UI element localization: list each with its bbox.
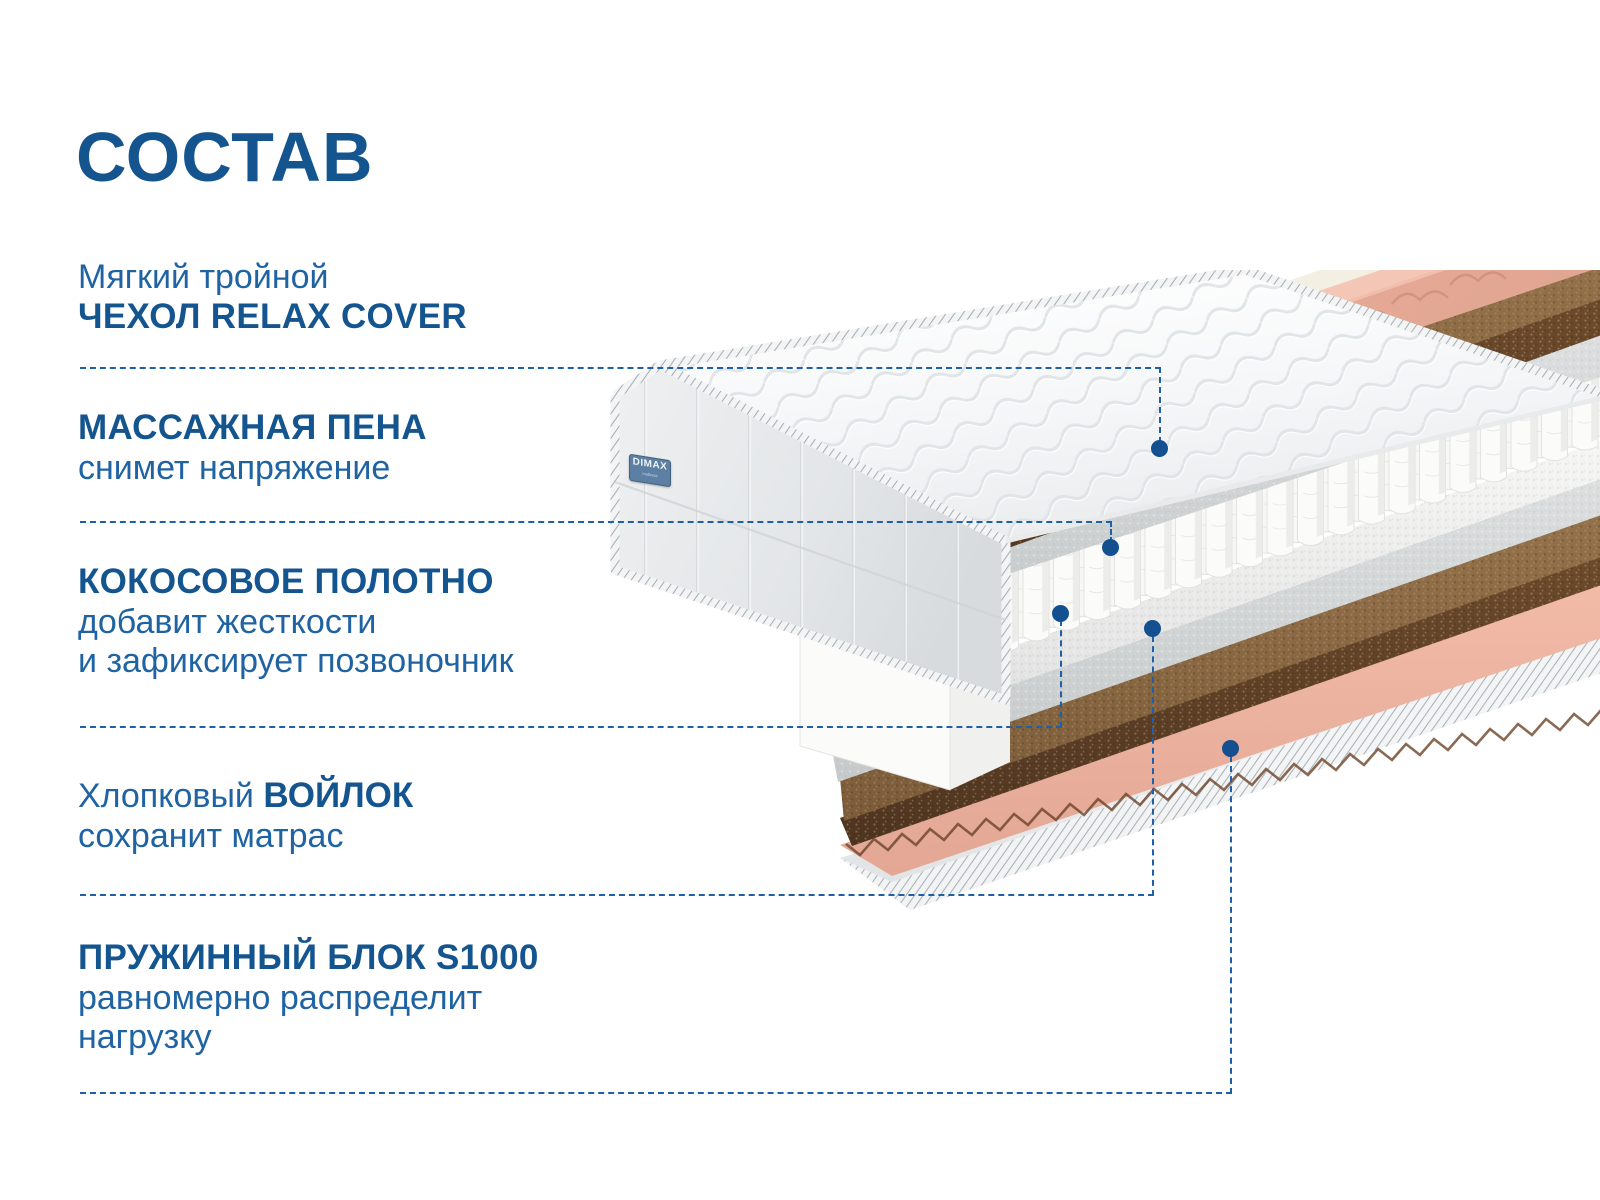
connector-line-felt-vertical	[1152, 636, 1154, 896]
massage-foam-name: МАССАЖНАЯ ПЕНА	[78, 408, 427, 449]
felt-marker	[1144, 620, 1161, 637]
spring-block-marker	[1222, 740, 1239, 757]
layer-text-cover: Мягкий тройной ЧЕХОЛ RELAX COVER	[78, 258, 467, 338]
connector-line-coconut	[80, 726, 1062, 728]
connector-line-cover-vertical	[1159, 367, 1161, 443]
coconut-desc: добавит жесткости	[78, 603, 514, 642]
coconut-marker	[1052, 605, 1069, 622]
felt-name: ВОЙЛОК	[263, 776, 413, 815]
coconut-name: КОКОСОВОЕ ПОЛОТНО	[78, 562, 514, 603]
layer-text-felt: Хлопковый ВОЙЛОК сохранит матрас	[78, 776, 413, 856]
layer-text-coconut: КОКОСОВОЕ ПОЛОТНО добавит жесткости и за…	[78, 562, 514, 681]
spring-block-name: ПРУЖИННЫЙ БЛОК S1000	[78, 938, 539, 979]
cover-marker	[1151, 440, 1168, 457]
mattress-cutaway-illustration: DIMAX mattress	[540, 270, 1600, 970]
layer-text-massage-foam: МАССАЖНАЯ ПЕНА снимет напряжение	[78, 408, 427, 488]
felt-headline: Хлопковый ВОЙЛОК	[78, 776, 413, 817]
connector-line-spring-block	[80, 1092, 1232, 1094]
page-title: СОСТАВ	[76, 122, 374, 192]
massage-foam-desc: снимет напряжение	[78, 449, 427, 488]
cover-name: ЧЕХОЛ RELAX COVER	[78, 297, 467, 338]
connector-line-felt	[80, 894, 1154, 896]
infographic-canvas: СОСТАВ Мягкий тройной ЧЕХОЛ RELAX COVER …	[0, 0, 1600, 1200]
layer-text-spring-block: ПРУЖИННЫЙ БЛОК S1000 равномерно распреде…	[78, 938, 539, 1057]
connector-line-spring-block-vertical	[1230, 756, 1232, 1094]
massage-foam-marker	[1102, 539, 1119, 556]
felt-desc: сохранит матрас	[78, 817, 413, 856]
cover-lead: Мягкий тройной	[78, 258, 467, 297]
connector-line-coconut-vertical	[1060, 620, 1062, 728]
coconut-desc2: и зафиксирует позвоночник	[78, 642, 514, 681]
felt-lead: Хлопковый	[78, 777, 254, 815]
spring-block-desc: равномерно распределит	[78, 979, 539, 1018]
connector-line-cover	[80, 367, 1161, 369]
spring-block-desc2: нагрузку	[78, 1018, 539, 1057]
connector-line-massage-foam	[80, 521, 1112, 523]
